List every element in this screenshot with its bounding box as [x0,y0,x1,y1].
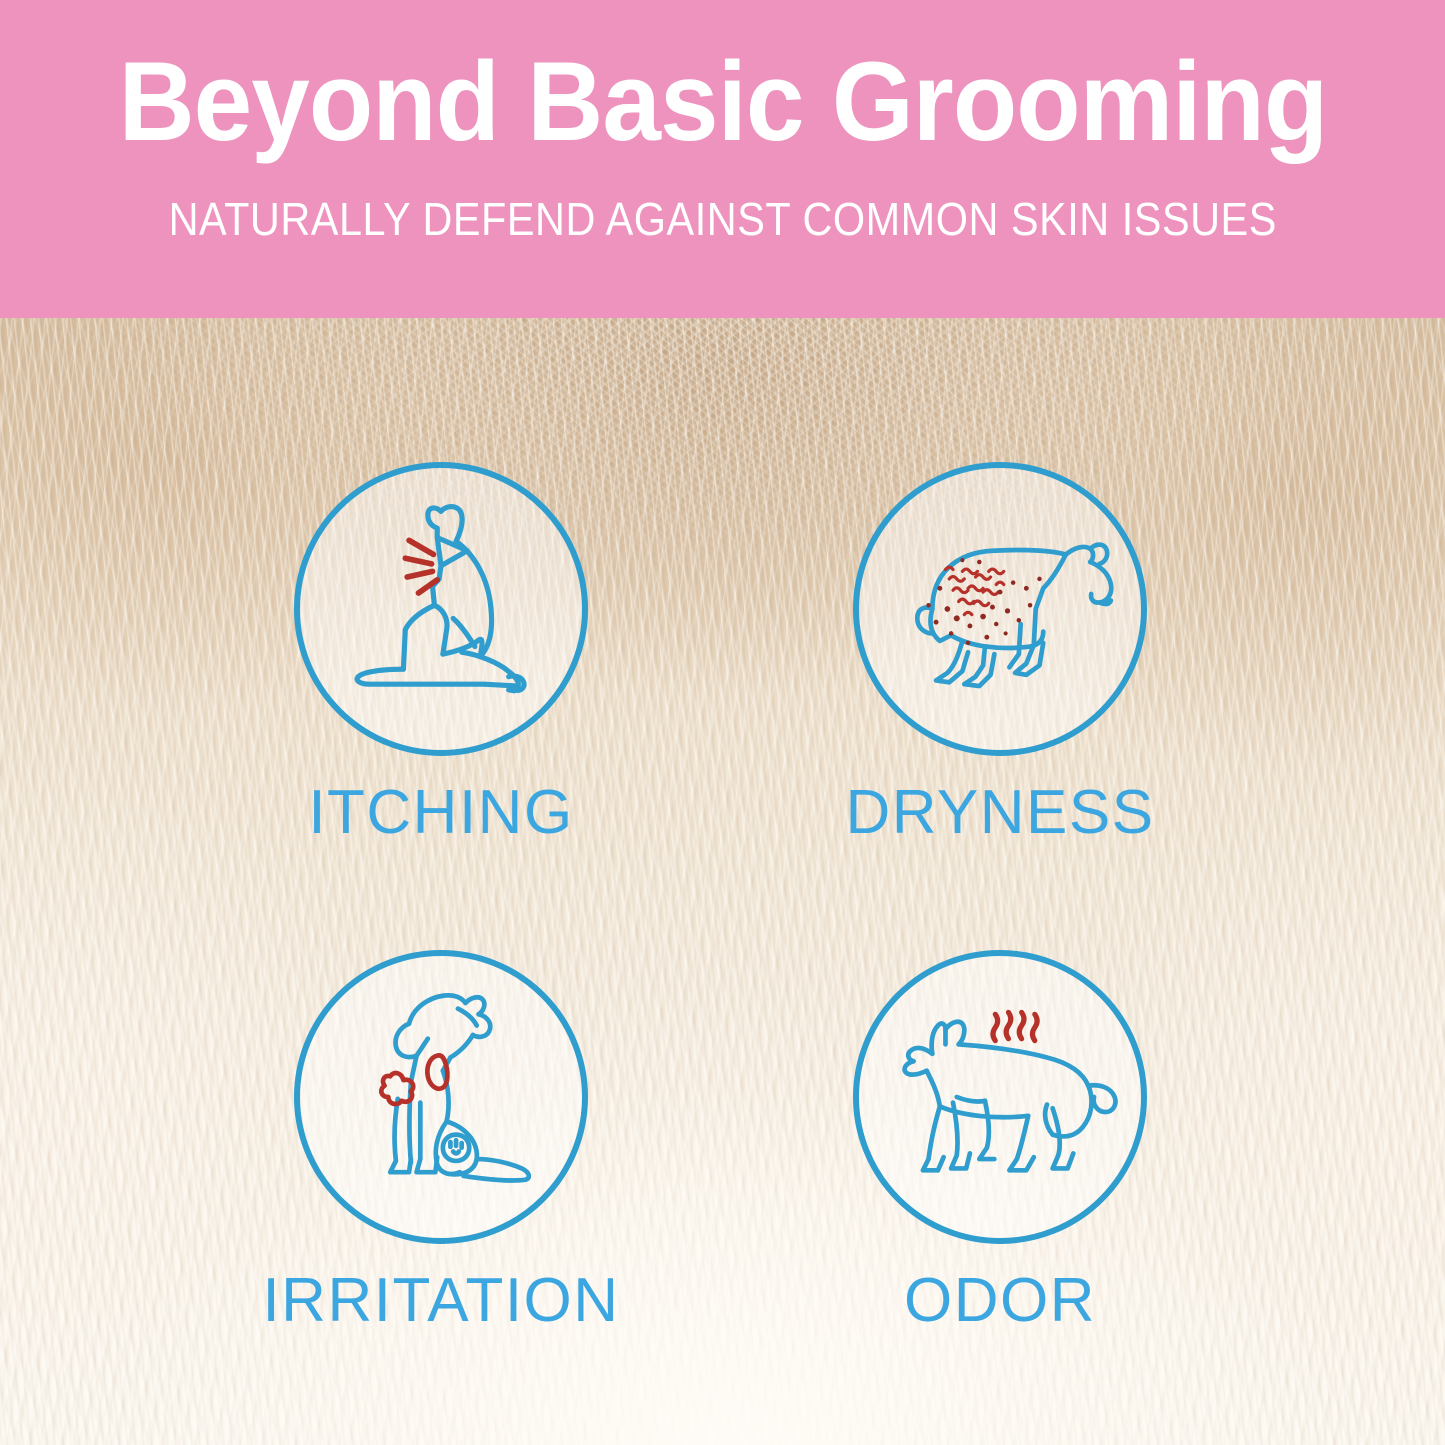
poster: Beyond Basic Grooming NATURALLY DEFEND A… [0,0,1445,1445]
benefit-item-irritation[interactable]: IRRITATION [261,950,621,1332]
benefit-label-odor: ODOR [820,1270,1180,1332]
benefit-item-dryness[interactable]: DRYNESS [820,462,1180,844]
odor-wave-lines-icon [859,956,1141,1238]
irritation-patches-icon [300,956,582,1238]
page-subtitle: NATURALLY DEFEND AGAINST COMMON SKIN ISS… [168,196,1276,242]
benefit-label-dryness: DRYNESS [820,782,1180,844]
dog-irritated-skin-patches-icon [294,950,588,1244]
benefit-grid: ITCHING [0,318,1445,1445]
benefit-label-itching: ITCHING [261,782,621,844]
benefit-item-itching[interactable]: ITCHING [261,462,621,844]
benefit-item-odor[interactable]: ODOR [820,950,1180,1332]
skin-dots-icon [859,468,1141,750]
page-title: Beyond Basic Grooming [118,46,1327,158]
dog-odor-waves-icon [853,950,1147,1244]
header-banner: Beyond Basic Grooming NATURALLY DEFEND A… [0,0,1445,318]
dog-scratching-icon [294,462,588,756]
itch-lines-icon [300,468,582,750]
dog-dry-skin-flakes-icon [853,462,1147,756]
benefit-label-irritation: IRRITATION [261,1270,621,1332]
